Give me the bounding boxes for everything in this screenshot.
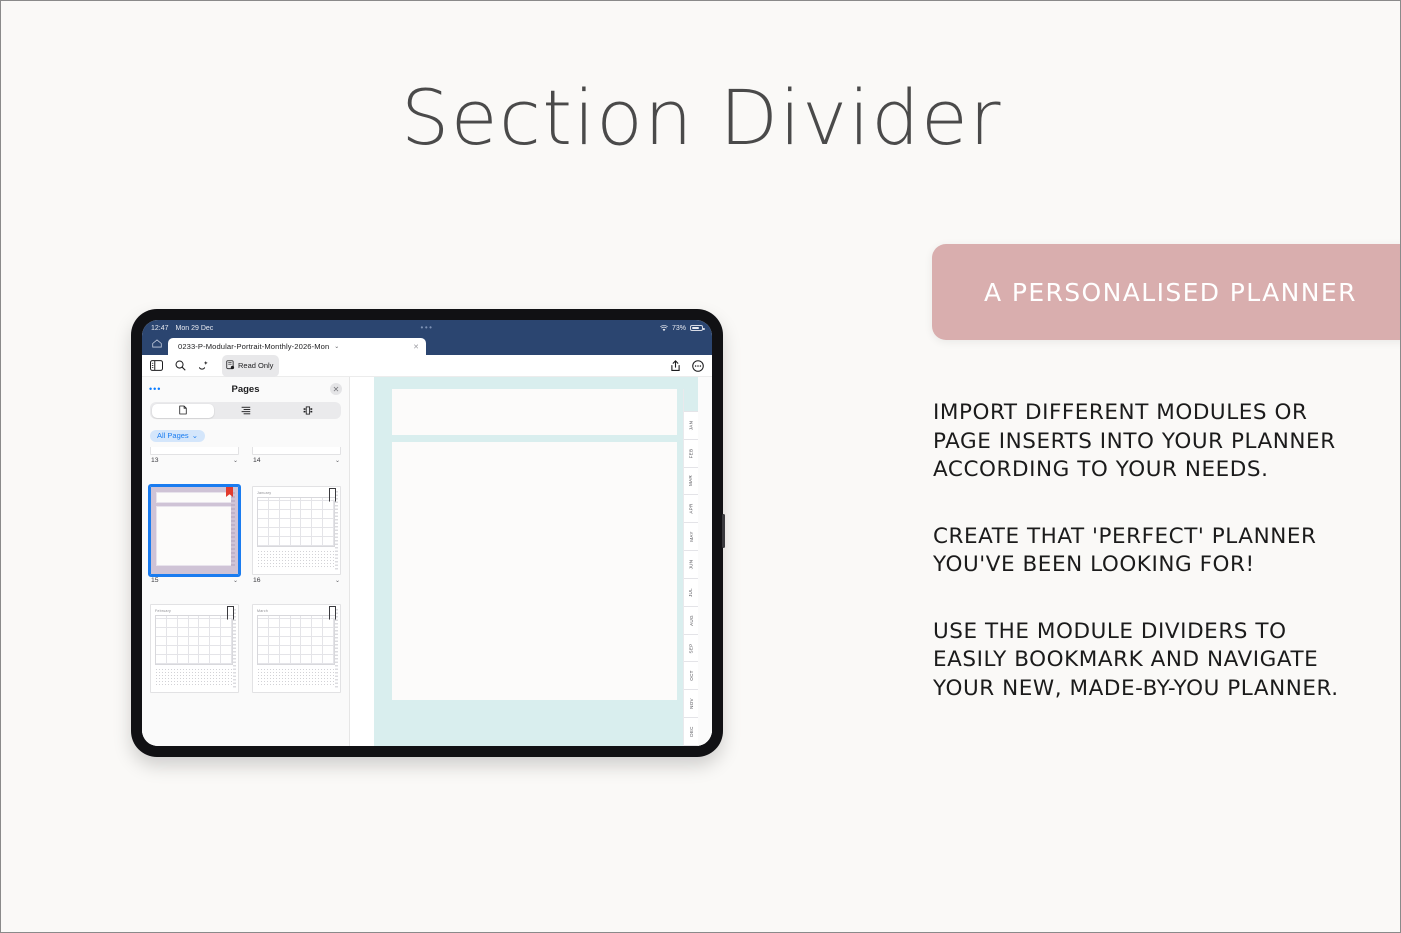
share-icon[interactable] <box>670 360 681 372</box>
calendar-page-preview <box>150 447 239 455</box>
divider-body-panel <box>156 506 233 566</box>
chevron-down-icon[interactable]: ⌄ <box>335 577 340 584</box>
page-thumbnail-grid: 13 ⌄ 1 <box>150 447 341 697</box>
segment-bookmarks[interactable] <box>277 404 340 418</box>
body-copy: IMPORT DIFFERENT MODULES OR PAGE INSERTS… <box>933 399 1363 703</box>
month-tab[interactable] <box>684 389 698 412</box>
bookmark-icon <box>329 606 336 616</box>
page-thumbnail-label: 14 ⌄ <box>252 455 341 464</box>
calendar-tab-strip <box>233 609 236 688</box>
read-only-button[interactable]: Read Only <box>222 355 279 377</box>
month-tab-dec[interactable]: DEC <box>684 718 698 746</box>
month-tab-label: FEB <box>689 448 694 458</box>
month-tab-label: APR <box>688 504 693 514</box>
page-number: 16 <box>253 577 261 584</box>
page-thumbnail-item-selected[interactable]: 15 ⌄ <box>150 486 239 584</box>
search-icon[interactable] <box>175 360 186 371</box>
chevron-down-icon[interactable]: ⌄ <box>233 457 238 464</box>
dot-grid <box>155 668 233 685</box>
document-tab-title: 0233-P-Modular-Portrait-Monthly-2026-Mon <box>178 342 329 351</box>
calendar-month-label: February <box>155 609 233 613</box>
list-icon <box>241 402 251 420</box>
slide-canvas: Section Divider A PERSONALISED PLANNER I… <box>0 0 1401 933</box>
calendar-month-label: March <box>257 609 335 613</box>
all-pages-filter-label: All Pages <box>157 431 189 440</box>
magic-wand-icon[interactable] <box>198 360 209 371</box>
divider-page-canvas: JAN FEB MAR APR MAY JUN JUL AUG SEP OCT … <box>374 377 698 746</box>
month-tab-mar[interactable]: MAR <box>684 468 698 496</box>
dot-grid <box>257 550 335 567</box>
bookmark-icon <box>227 606 234 616</box>
month-tab-label: AUG <box>688 615 693 626</box>
pages-view-segmented-control[interactable] <box>150 402 341 419</box>
month-tab-label: JUL <box>688 588 693 597</box>
page-thumbnail-label: 15 ⌄ <box>150 575 239 584</box>
page-thumbnail-scroll-area[interactable]: 13 ⌄ 1 <box>142 447 349 746</box>
close-icon[interactable]: ✕ <box>330 383 342 395</box>
calendar-tab-strip <box>335 609 338 688</box>
calendar-grid <box>257 497 335 547</box>
app-body: ••• Pages ✕ <box>142 377 712 746</box>
month-tab-sep[interactable]: SEP <box>684 635 698 663</box>
calendar-page-preview: January <box>252 486 341 575</box>
page-thumbnail-item[interactable]: February <box>150 604 239 693</box>
month-tab-label: OCT <box>688 671 693 682</box>
toolbar-right-group <box>670 360 704 372</box>
status-date: Mon 29 Dec <box>176 325 214 332</box>
calendar-tab-strip <box>335 491 338 570</box>
pages-filter-row: All Pages ⌄ <box>142 419 349 447</box>
dot-grid <box>257 668 335 685</box>
month-tab-oct[interactable]: OCT <box>684 662 698 690</box>
document-tab[interactable]: 0233-P-Modular-Portrait-Monthly-2026-Mon… <box>168 338 426 355</box>
chevron-down-icon[interactable]: ⌄ <box>334 343 339 350</box>
page-title: Section Divider <box>1 73 1401 162</box>
battery-percent: 73% <box>672 325 686 332</box>
month-tab-label: NOV <box>688 698 693 709</box>
app-toolbar: Read Only <box>142 355 712 377</box>
pages-panel-header: ••• Pages ✕ <box>142 377 349 401</box>
month-tab-label: MAY <box>688 531 693 542</box>
browser-tab-bar: 0233-P-Modular-Portrait-Monthly-2026-Mon… <box>142 336 712 355</box>
pages-panel-title: Pages <box>142 384 349 395</box>
calendar-month-label: January <box>257 491 335 495</box>
month-tab-jun[interactable]: JUN <box>684 551 698 579</box>
month-tab-label: JAN <box>689 420 694 430</box>
copy-paragraph-1: IMPORT DIFFERENT MODULES OR PAGE INSERTS… <box>933 399 1363 485</box>
more-options-icon[interactable] <box>692 360 704 372</box>
page-thumbnail-label: 16 ⌄ <box>252 575 341 584</box>
close-icon[interactable]: ✕ <box>393 343 419 351</box>
page-thumbnail-item[interactable]: March <box>252 604 341 693</box>
all-pages-filter-button[interactable]: All Pages ⌄ <box>150 430 205 442</box>
banner-a-personalised-planner: A PERSONALISED PLANNER <box>932 244 1401 340</box>
divider-body-panel <box>392 442 677 700</box>
bookmark-icon <box>329 488 336 498</box>
month-tab-nov[interactable]: NOV <box>684 690 698 718</box>
page-thumbnail-item[interactable]: 14 ⌄ <box>252 447 341 464</box>
chevron-down-icon[interactable]: ⌄ <box>335 457 340 464</box>
calendar-page-preview <box>252 447 341 455</box>
bookmark-tabs-icon <box>303 402 313 420</box>
status-time: 12:47 <box>151 325 169 332</box>
divider-title-panel <box>392 389 677 435</box>
month-tab-label: DEC <box>688 726 693 737</box>
page-thumbnail-clipped <box>150 447 239 455</box>
divider-tab-strip <box>231 492 235 568</box>
divider-page-content <box>374 389 683 746</box>
month-tab-feb[interactable]: FEB <box>684 440 698 468</box>
page-number: 15 <box>151 577 159 584</box>
page-icon <box>179 402 187 420</box>
pages-sidebar: ••• Pages ✕ <box>142 377 350 746</box>
page-thumbnail-item[interactable]: January <box>252 486 341 584</box>
page-number: 13 <box>151 457 159 464</box>
segment-thumbnails[interactable] <box>152 404 215 418</box>
month-tab-aug[interactable]: AUG <box>684 607 698 635</box>
wifi-icon <box>660 325 668 332</box>
status-bar-left: 12:47 Mon 29 Dec <box>151 325 213 332</box>
month-tab-jul[interactable]: JUL <box>684 579 698 607</box>
month-tab-label: MAR <box>688 475 693 486</box>
document-viewer[interactable]: JAN FEB MAR APR MAY JUN JUL AUG SEP OCT … <box>350 377 712 746</box>
calendar-page-preview: March <box>252 604 341 693</box>
month-tab-may[interactable]: MAY <box>684 523 698 551</box>
viewer-left-gutter <box>350 377 374 746</box>
status-dots: ••• <box>421 324 434 332</box>
month-tab-label: SEP <box>689 643 694 653</box>
chevron-down-icon[interactable]: ⌄ <box>233 577 238 584</box>
read-only-document-icon <box>226 357 235 375</box>
page-thumbnail-item[interactable]: 13 ⌄ <box>150 447 239 464</box>
month-tab-label: JUN <box>689 560 694 570</box>
divider-header-panel <box>156 492 233 503</box>
calendar-page-preview: February <box>150 604 239 693</box>
month-tab-jan[interactable]: JAN <box>684 412 698 440</box>
banner-label: A PERSONALISED PLANNER <box>932 278 1357 307</box>
copy-paragraph-3: USE THE MODULE DIVIDERS TO EASILY BOOKMA… <box>933 618 1363 704</box>
segment-outline[interactable] <box>214 404 277 418</box>
copy-paragraph-2: CREATE THAT 'PERFECT' PLANNER YOU'VE BEE… <box>933 523 1363 580</box>
ipad-device-mockup: 12:47 Mon 29 Dec ••• 73% 0233 <box>131 309 723 757</box>
ipad-screen: 12:47 Mon 29 Dec ••• 73% 0233 <box>142 320 712 746</box>
read-only-label: Read Only <box>238 361 273 370</box>
page-thumbnail-clipped <box>252 447 341 455</box>
page-thumbnail-label: 13 ⌄ <box>150 455 239 464</box>
sidebar-toggle-icon[interactable] <box>150 360 163 371</box>
status-bar-right: 73% <box>660 325 703 332</box>
home-icon[interactable] <box>150 339 163 352</box>
battery-icon <box>690 325 703 332</box>
calendar-grid <box>257 615 335 665</box>
page-number: 14 <box>253 457 261 464</box>
chevron-down-icon: ⌄ <box>192 431 198 440</box>
month-tab-strip[interactable]: JAN FEB MAR APR MAY JUN JUL AUG SEP OCT … <box>683 389 698 746</box>
calendar-grid <box>155 615 233 665</box>
viewer-right-rail <box>698 377 712 746</box>
month-tab-apr[interactable]: APR <box>684 495 698 523</box>
divider-page-preview <box>150 486 239 575</box>
status-bar: 12:47 Mon 29 Dec ••• 73% <box>142 320 712 336</box>
